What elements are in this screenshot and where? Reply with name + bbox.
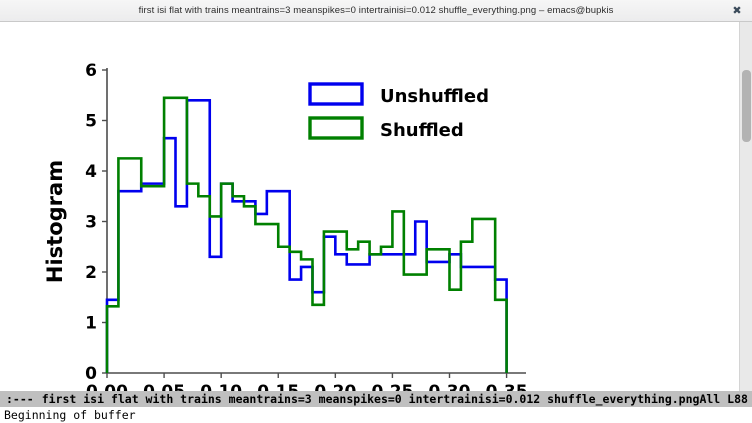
modeline-position: All L88	[699, 392, 752, 406]
modeline-buffer-name: first isi flat with trains meantrains=3 …	[34, 392, 700, 406]
x-tick-label: 0.10	[200, 382, 242, 391]
y-tick-label: 5	[85, 112, 97, 132]
close-icon[interactable]: ✖	[730, 4, 744, 18]
minibuffer[interactable]: Beginning of buffer	[0, 407, 752, 423]
y-tick-label: 3	[85, 213, 97, 233]
image-buffer: 01234560.000.050.100.150.200.250.300.35F…	[0, 22, 752, 391]
x-tick-label: 0.05	[143, 382, 185, 391]
y-axis-label: Histogram	[43, 160, 67, 283]
x-tick-label: 0.25	[371, 382, 413, 391]
scrollbar-thumb[interactable]	[742, 70, 751, 142]
series-unshuffled	[107, 100, 507, 373]
x-tick-label: 0.30	[429, 382, 471, 391]
x-tick-label: 0.00	[86, 382, 128, 391]
window-titlebar: first isi flat with trains meantrains=3 …	[0, 0, 752, 22]
y-tick-label: 1	[85, 314, 97, 334]
window-title: first isi flat with trains meantrains=3 …	[139, 5, 614, 16]
legend-label: Unshuffled	[380, 86, 489, 107]
legend: UnshuffledShuffled	[310, 84, 489, 141]
y-tick-label: 6	[85, 61, 97, 81]
histogram-figure: 01234560.000.050.100.150.200.250.300.35F…	[6, 22, 745, 391]
x-tick-label: 0.15	[257, 382, 299, 391]
x-tick-label: 0.20	[314, 382, 356, 391]
emacs-window: first isi flat with trains meantrains=3 …	[0, 0, 752, 423]
y-tick-label: 0	[85, 364, 97, 384]
y-tick-label: 4	[85, 162, 97, 182]
axis-spines	[107, 68, 526, 373]
plot-area: 01234560.000.050.100.150.200.250.300.35F…	[6, 22, 745, 391]
mode-line: :--- first isi flat with trains meantrai…	[0, 391, 752, 407]
legend-label: Shuffled	[380, 120, 464, 141]
y-tick-label: 2	[85, 263, 97, 283]
modeline-prefix: :---	[0, 392, 34, 406]
minibuffer-message: Beginning of buffer	[4, 408, 136, 422]
legend-swatch	[310, 84, 362, 104]
legend-swatch	[310, 118, 362, 138]
x-tick-label: 0.35	[486, 382, 528, 391]
vertical-scrollbar[interactable]	[739, 22, 752, 391]
